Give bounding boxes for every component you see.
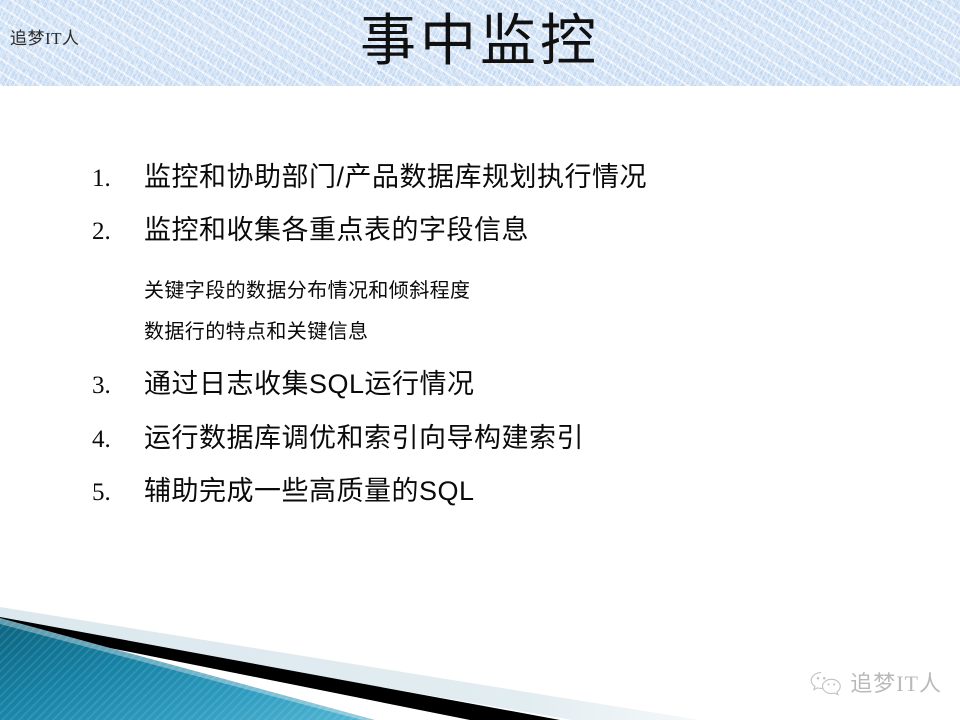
slide-header: 追梦IT人 事中监控	[0, 0, 960, 86]
page-title: 事中监控	[0, 6, 960, 78]
slide: 追梦IT人 事中监控 1. 监控和协助部门/产品数据库规划执行情况 2. 监控和…	[0, 0, 960, 720]
sub-list-item: 数据行的特点和关键信息	[144, 315, 368, 344]
list-item-number: 3.	[92, 372, 144, 400]
list-item: 1. 监控和协助部门/产品数据库规划执行情况	[92, 155, 647, 194]
list-item-number: 1.	[92, 165, 144, 193]
watermark-text: 追梦IT人	[850, 673, 942, 695]
sub-list-item: 关键字段的数据分布情况和倾斜程度	[144, 274, 470, 303]
list-item-label: 运行数据库调优和索引向导构建索引	[144, 416, 584, 455]
list-item: 5. 辅助完成一些高质量的SQL	[92, 469, 475, 508]
slide-body: 1. 监控和协助部门/产品数据库规划执行情况 2. 监控和收集各重点表的字段信息…	[0, 86, 960, 720]
list-item-number: 5.	[92, 479, 144, 507]
list-item: 4. 运行数据库调优和索引向导构建索引	[92, 416, 584, 455]
list-item-number: 4.	[92, 426, 144, 454]
list-item-label: 辅助完成一些高质量的SQL	[144, 469, 475, 508]
wechat-icon	[809, 670, 843, 698]
list-item-label: 监控和协助部门/产品数据库规划执行情况	[144, 155, 647, 194]
list-item-label: 通过日志收集SQL运行情况	[144, 362, 475, 401]
list-item-label: 监控和收集各重点表的字段信息	[144, 208, 529, 247]
list-item: 2. 监控和收集各重点表的字段信息	[92, 208, 529, 247]
list-item-number: 2.	[92, 218, 144, 246]
watermark: 追梦IT人	[809, 670, 942, 698]
list-item: 3. 通过日志收集SQL运行情况	[92, 362, 475, 401]
